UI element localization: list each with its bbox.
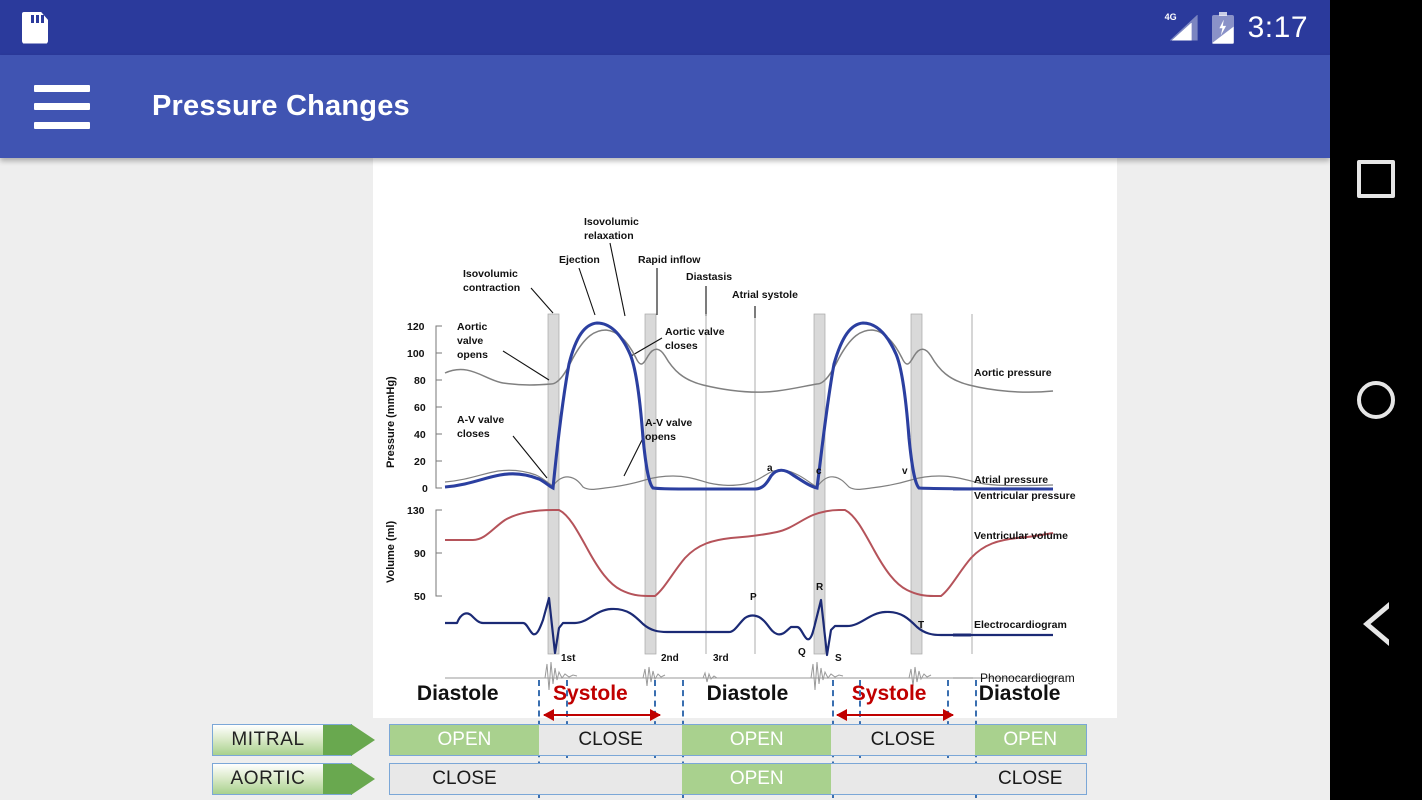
tick-40: 40 bbox=[414, 429, 426, 441]
valve-seg: OPEN bbox=[682, 764, 831, 794]
valve-tag-mitral-label: MITRAL bbox=[231, 729, 304, 751]
annot-aortic-valve-opens-l1: Aortic bbox=[457, 321, 487, 333]
valve-seg bbox=[654, 764, 682, 794]
atrial-wave-v: v bbox=[902, 466, 908, 477]
axis-label-volume: Volume (ml) bbox=[385, 521, 397, 583]
valve-seg: CLOSE bbox=[567, 725, 655, 755]
annot-diastasis: Diastasis bbox=[686, 271, 732, 283]
ecg-label-p: P bbox=[750, 592, 757, 603]
hamburger-menu-icon[interactable] bbox=[34, 85, 90, 129]
annot-av-valve-closes-l2: closes bbox=[457, 428, 490, 440]
back-icon-inner bbox=[1371, 608, 1390, 640]
legend-ventricular-pressure: Ventricular pressure bbox=[974, 490, 1076, 502]
valve-seg: CLOSE bbox=[390, 764, 539, 794]
status-bar-clock: 3:17 bbox=[1248, 13, 1308, 43]
annot-atrial-systole: Atrial systole bbox=[732, 289, 798, 301]
annot-isovolumic-relaxation-l2: relaxation bbox=[584, 230, 634, 242]
annot-aortic-valve-opens-l3: opens bbox=[457, 349, 488, 361]
tick-100: 100 bbox=[407, 348, 425, 360]
valve-seg bbox=[947, 764, 975, 794]
valve-seg bbox=[831, 764, 859, 794]
valve-seg bbox=[654, 725, 682, 755]
annot-isovolumic-relaxation-l1: Isovolumic bbox=[584, 216, 639, 228]
valve-bar-mitral[interactable]: OPEN CLOSE OPEN CLOSE OPEN bbox=[389, 724, 1087, 756]
annot-aortic-valve-opens-l2: valve bbox=[457, 335, 483, 347]
annot-av-valve-opens-l1: A-V valve bbox=[645, 417, 692, 429]
volume-ticks: 130 90 50 bbox=[407, 505, 442, 603]
ecg-label-q: Q bbox=[798, 647, 806, 658]
tick-60: 60 bbox=[414, 402, 426, 414]
ecg-label-t: T bbox=[918, 620, 924, 631]
wiggers-diagram: .lbl { font-size:10.5px; font-weight:bol… bbox=[373, 158, 1117, 718]
valve-seg: OPEN bbox=[682, 725, 831, 755]
pressure-ticks: 120 100 80 60 40 20 0 bbox=[407, 321, 442, 495]
tick-90: 90 bbox=[414, 548, 426, 560]
status-bar-left bbox=[0, 12, 48, 44]
page-title: Pressure Changes bbox=[152, 90, 410, 123]
tick-120: 120 bbox=[407, 321, 425, 333]
tick-0: 0 bbox=[422, 483, 428, 495]
valve-seg bbox=[947, 725, 975, 755]
valve-bar-aortic[interactable]: CLOSE OPEN CLOSE bbox=[389, 763, 1087, 795]
tick-130: 130 bbox=[407, 505, 425, 517]
legend-atrial-pressure: Atrial pressure bbox=[974, 474, 1048, 486]
phase-label-row: Diastole Systole Diastole Systole Diasto… bbox=[389, 682, 1087, 716]
annot-av-valve-opens-l2: opens bbox=[645, 431, 676, 443]
phase-label-diastole-3: Diastole bbox=[979, 682, 1061, 706]
annot-av-valve-closes-l1: A-V valve bbox=[457, 414, 504, 426]
tick-80: 80 bbox=[414, 375, 426, 387]
ecg-label-s: S bbox=[835, 653, 842, 664]
annot-isovolumic-contraction-l2: contraction bbox=[463, 282, 520, 294]
home-icon[interactable] bbox=[1357, 381, 1395, 419]
valve-seg bbox=[831, 725, 859, 755]
legend-electrocardiogram: Electrocardiogram bbox=[974, 619, 1067, 631]
signal-icon: 4G bbox=[1164, 13, 1198, 43]
annot-rapid-inflow: Rapid inflow bbox=[638, 254, 701, 266]
screen-root: 4G 3:17 Pressure Changes bbox=[0, 0, 1422, 800]
valve-seg: OPEN bbox=[975, 725, 1086, 755]
valve-seg bbox=[539, 725, 567, 755]
phase-label-systole-2: Systole bbox=[852, 682, 927, 706]
annot-ejection: Ejection bbox=[559, 254, 600, 266]
valve-seg bbox=[859, 764, 947, 794]
axis-label-pressure: Pressure (mmHg) bbox=[385, 376, 397, 468]
app-bar: Pressure Changes bbox=[0, 55, 1330, 158]
sound-label-3rd: 3rd bbox=[713, 653, 729, 664]
atrial-wave-a: a bbox=[767, 463, 773, 474]
status-bar: 4G 3:17 bbox=[0, 0, 1330, 55]
atrial-wave-c: c bbox=[816, 466, 822, 477]
phase-label-systole-1: Systole bbox=[553, 682, 628, 706]
annot-aortic-valve-closes-l1: Aortic valve bbox=[665, 326, 725, 338]
valve-seg bbox=[539, 764, 567, 794]
sound-label-1st: 1st bbox=[561, 653, 576, 664]
network-type-label: 4G bbox=[1165, 12, 1177, 22]
ecg-label-r: R bbox=[816, 582, 824, 593]
android-nav-bar bbox=[1330, 0, 1422, 800]
tick-20: 20 bbox=[414, 456, 426, 468]
valve-seg: CLOSE bbox=[975, 764, 1086, 794]
annot-aortic-valve-closes-l2: closes bbox=[665, 340, 698, 352]
sdcard-icon bbox=[22, 12, 48, 44]
phone-screen: 4G 3:17 Pressure Changes bbox=[0, 0, 1330, 800]
valve-seg: OPEN bbox=[390, 725, 539, 755]
sound-label-2nd: 2nd bbox=[661, 653, 679, 664]
valve-tag-mitral[interactable]: MITRAL bbox=[212, 724, 352, 756]
status-bar-right: 4G 3:17 bbox=[1164, 12, 1330, 44]
tick-50: 50 bbox=[414, 591, 426, 603]
recent-apps-icon[interactable] bbox=[1357, 160, 1395, 198]
annot-isovolumic-contraction-l1: Isovolumic bbox=[463, 268, 518, 280]
content-area: .lbl { font-size:10.5px; font-weight:bol… bbox=[0, 158, 1330, 800]
phase-label-diastole-2: Diastole bbox=[707, 682, 789, 706]
valve-seg bbox=[567, 764, 655, 794]
valve-tag-aortic[interactable]: AORTIC bbox=[212, 763, 352, 795]
phase-label-diastole-1: Diastole bbox=[417, 682, 499, 706]
valve-seg: CLOSE bbox=[859, 725, 947, 755]
legend-ventricular-volume: Ventricular volume bbox=[974, 530, 1068, 542]
valve-tag-aortic-label: AORTIC bbox=[230, 768, 305, 790]
valve-status-area: MITRAL OPEN CLOSE OPEN CLOSE OPEN AOR bbox=[0, 718, 1330, 800]
diagram-card[interactable]: .lbl { font-size:10.5px; font-weight:bol… bbox=[373, 158, 1117, 718]
legend-aortic-pressure: Aortic pressure bbox=[974, 367, 1052, 379]
battery-charging-icon bbox=[1212, 12, 1234, 44]
